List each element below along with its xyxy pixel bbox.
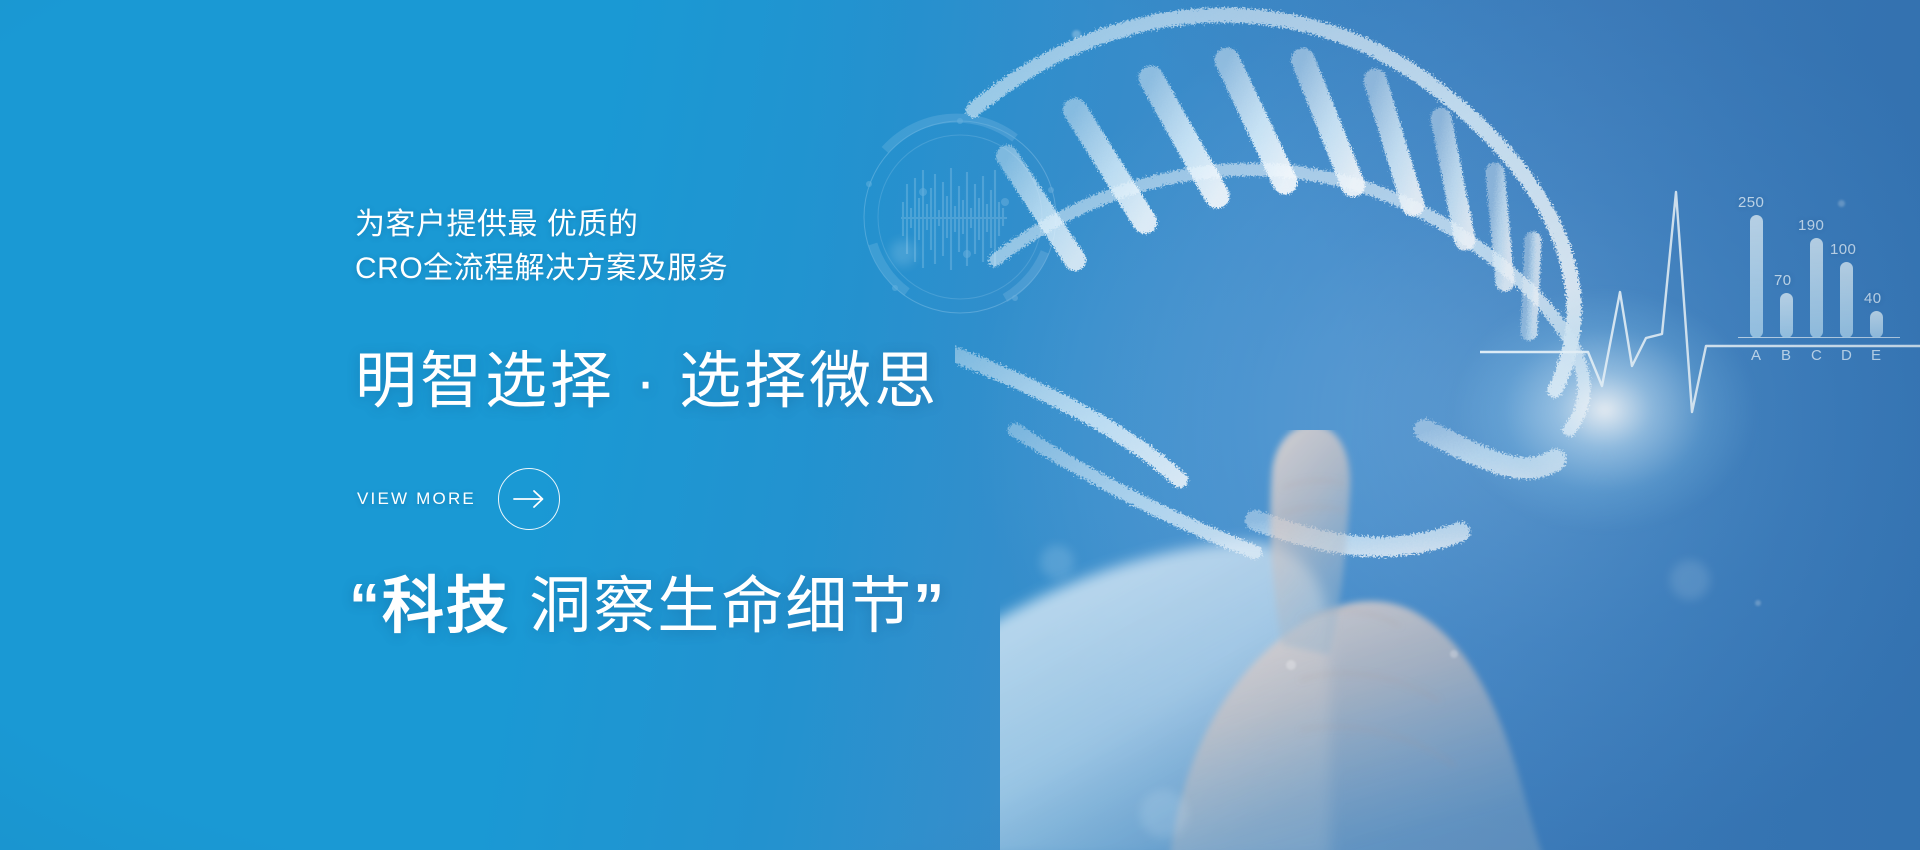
arrow-right-icon[interactable] [498, 468, 560, 530]
hero-subtitle: 为客户提供最 优质的 CRO全流程解决方案及服务 [355, 203, 728, 290]
quote-space [510, 572, 529, 641]
view-more-label: VIEW MORE [357, 489, 476, 509]
quote-light-text: 洞察生命细节 [529, 572, 913, 641]
quote-strong-text: 科技 [382, 572, 510, 641]
hero-banner: 250 70 190 100 40 A B C D E 为客户提供最 优质的 C… [0, 0, 1920, 850]
hero-content: 为客户提供最 优质的 CRO全流程解决方案及服务 明智选择 · 选择微思 VIE… [355, 0, 1255, 850]
hero-headline: 明智选择 · 选择微思 [355, 330, 939, 420]
hero-quote: “科技 洞察生命细节” [349, 555, 946, 645]
quote-close-mark: ” [913, 572, 946, 641]
view-more-button[interactable]: VIEW MORE [357, 468, 560, 530]
quote-open-mark: “ [349, 572, 382, 641]
